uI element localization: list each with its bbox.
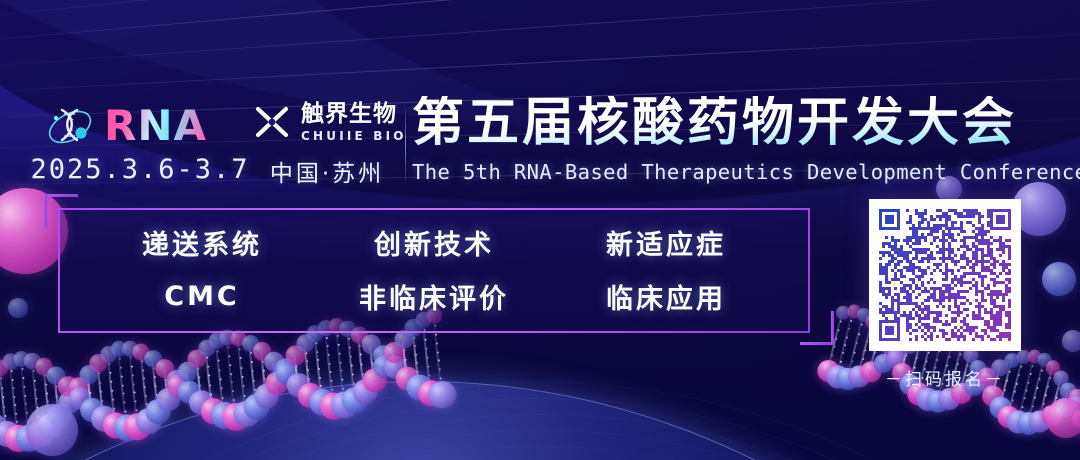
rna-logo-text: RNA xyxy=(104,105,207,147)
dna-helix-orbit-icon xyxy=(44,100,96,152)
qr-caption: －扫码报名－ xyxy=(869,365,1021,390)
topic-item: 创新技术 xyxy=(374,223,494,262)
registration-panel: －扫码报名－ xyxy=(869,199,1021,390)
decorative-orb xyxy=(1046,398,1080,438)
conference-banner: RNA 2025.3.6-3.7 触界生物 CHUIIE BIO 中国·苏州 xyxy=(0,0,1080,460)
conference-location: 中国·苏州 xyxy=(252,154,402,188)
topic-item: 递送系统 xyxy=(142,223,262,262)
conference-title-cn: 第五届核酸药物开发大会 xyxy=(412,96,1052,150)
topics-box: 递送系统创新技术新适应症CMC非临床评价临床应用 xyxy=(58,208,810,333)
organizer-name-block: 触界生物 CHUIIE BIO xyxy=(301,103,407,142)
conference-date: 2025.3.6-3.7 xyxy=(26,154,254,185)
decorative-orb xyxy=(1042,262,1076,296)
topic-item: CMC xyxy=(164,281,240,312)
decorative-orb xyxy=(8,298,28,318)
organizer-name-cn: 触界生物 xyxy=(301,103,407,126)
topic-item: 临床应用 xyxy=(606,277,726,316)
conference-title-en: The 5th RNA-Based Therapeutics Developme… xyxy=(412,160,1052,184)
organizer-logo: 触界生物 CHUIIE BIO xyxy=(252,102,407,142)
topic-item: 新适应症 xyxy=(606,223,726,262)
qr-code[interactable] xyxy=(869,199,1021,351)
decorative-orb xyxy=(1062,330,1080,352)
banner-header: RNA 2025.3.6-3.7 触界生物 CHUIIE BIO 中国·苏州 xyxy=(0,96,1080,196)
title-block: 第五届核酸药物开发大会 The 5th RNA-Based Therapeuti… xyxy=(412,96,1052,184)
topics-grid: 递送系统创新技术新适应症CMC非临床评价临床应用 xyxy=(60,210,808,331)
header-divider xyxy=(405,102,406,186)
organizer-name-en: CHUIIE BIO xyxy=(301,130,407,142)
rna-logo: RNA xyxy=(44,100,207,152)
topic-item: 非临床评价 xyxy=(359,277,509,316)
chujie-x-mark-icon xyxy=(252,102,292,142)
decorative-orb xyxy=(26,404,78,456)
